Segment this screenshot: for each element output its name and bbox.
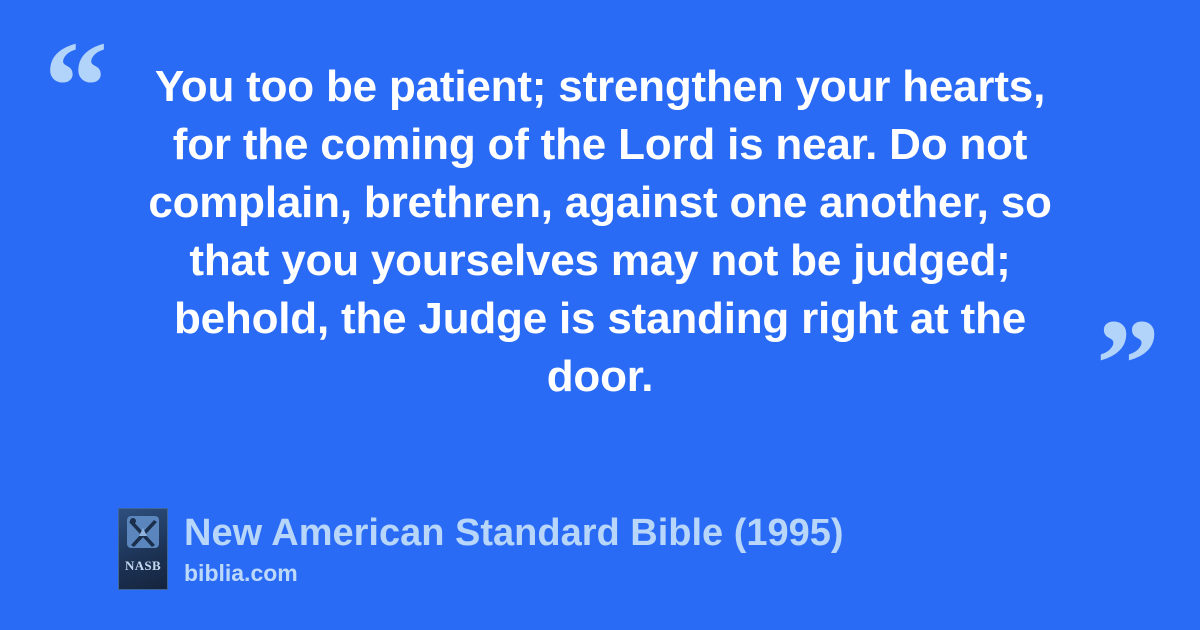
verse-line: behold, the Judge is standing right at t… bbox=[110, 290, 1090, 348]
nasb-logo: NASB bbox=[118, 508, 168, 590]
nasb-cross-sword-icon bbox=[125, 514, 161, 554]
verse-line: You too be patient; strengthen your hear… bbox=[110, 58, 1090, 116]
open-quote-icon: “ bbox=[44, 22, 106, 150]
verse-line: that you yourselves may not be judged; bbox=[110, 232, 1090, 290]
verse-line: complain, brethren, against one another,… bbox=[110, 174, 1090, 232]
nasb-logo-label: NASB bbox=[125, 559, 161, 572]
bible-version-title: New American Standard Bible (1995) bbox=[184, 510, 844, 556]
verse-text-block: You too be patient; strengthen your hear… bbox=[110, 58, 1090, 406]
source-website[interactable]: biblia.com bbox=[184, 558, 844, 588]
attribution-text: New American Standard Bible (1995) bibli… bbox=[184, 508, 844, 588]
verse-line: door. bbox=[110, 348, 1090, 406]
close-quote-icon: ” bbox=[1096, 300, 1158, 428]
verse-line: for the coming of the Lord is near. Do n… bbox=[110, 116, 1090, 174]
quote-card: “ You too be patient; strengthen your he… bbox=[0, 0, 1200, 630]
attribution: NASB New American Standard Bible (1995) … bbox=[118, 508, 844, 590]
